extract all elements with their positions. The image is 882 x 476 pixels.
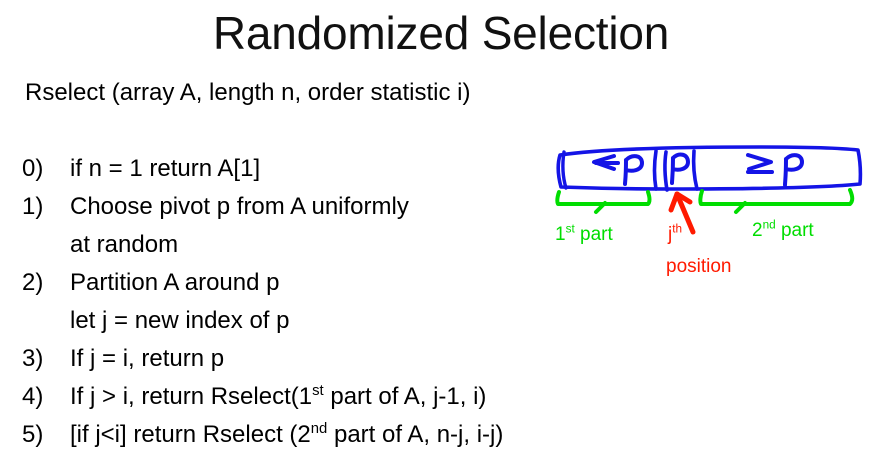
step-marker: 0) <box>22 150 70 188</box>
step-text: If j = i, return p <box>70 340 562 378</box>
partition-diagram: 1st part 2nd part jth position <box>540 132 882 307</box>
step-line-continuation: at random <box>22 226 562 264</box>
step-line: 1) Choose pivot p from A uniformly <box>22 188 562 226</box>
step-marker: 5) <box>22 416 70 454</box>
cell-label-p <box>672 155 688 183</box>
page-title: Randomized Selection <box>0 6 882 60</box>
slide-canvas: Randomized Selection Rselect (array A, l… <box>0 0 882 476</box>
step-marker: 3) <box>22 340 70 378</box>
step-text: Partition A around p <box>70 264 562 302</box>
step-line: 2) Partition A around p <box>22 264 562 302</box>
step-text: if n = 1 return A[1] <box>70 150 562 188</box>
step-text: at random <box>70 226 562 264</box>
brace-label-first-part: 1st part <box>555 224 613 246</box>
step-marker: 4) <box>22 378 70 416</box>
brace-label-second-part: 2nd part <box>752 220 814 242</box>
box-left-accent <box>563 152 566 188</box>
step-text: If j > i, return Rselect(1st part of A, … <box>70 378 562 416</box>
step-line-continuation: let j = new index of p <box>22 302 562 340</box>
cell-label-less-than-p <box>594 156 642 184</box>
diagram-strokes <box>540 132 882 307</box>
step-line: 3) If j = i, return p <box>22 340 562 378</box>
step-text: let j = new index of p <box>70 302 562 340</box>
pointer-label-position: position <box>666 256 732 278</box>
array-box-outline <box>558 147 860 189</box>
step-line: 5) [if j<i] return Rselect (2nd part of … <box>22 416 562 454</box>
pointer-label-jth: jth <box>668 224 682 246</box>
step-marker: 1) <box>22 188 70 226</box>
brace-first-part <box>557 192 649 212</box>
step-line: 0) if n = 1 return A[1] <box>22 150 562 188</box>
step-text: Choose pivot p from A uniformly <box>70 188 562 226</box>
brace-second-part <box>700 190 852 212</box>
procedure-signature: Rselect (array A, length n, order statis… <box>25 79 471 107</box>
step-marker: 2) <box>22 264 70 302</box>
step-text: [if j<i] return Rselect (2nd part of A, … <box>70 416 562 454</box>
cell-label-greater-than-p <box>748 155 802 185</box>
step-line: 4) If j > i, return Rselect(1st part of … <box>22 378 562 416</box>
algorithm-steps: 0) if n = 1 return A[1] 1) Choose pivot … <box>22 150 562 454</box>
